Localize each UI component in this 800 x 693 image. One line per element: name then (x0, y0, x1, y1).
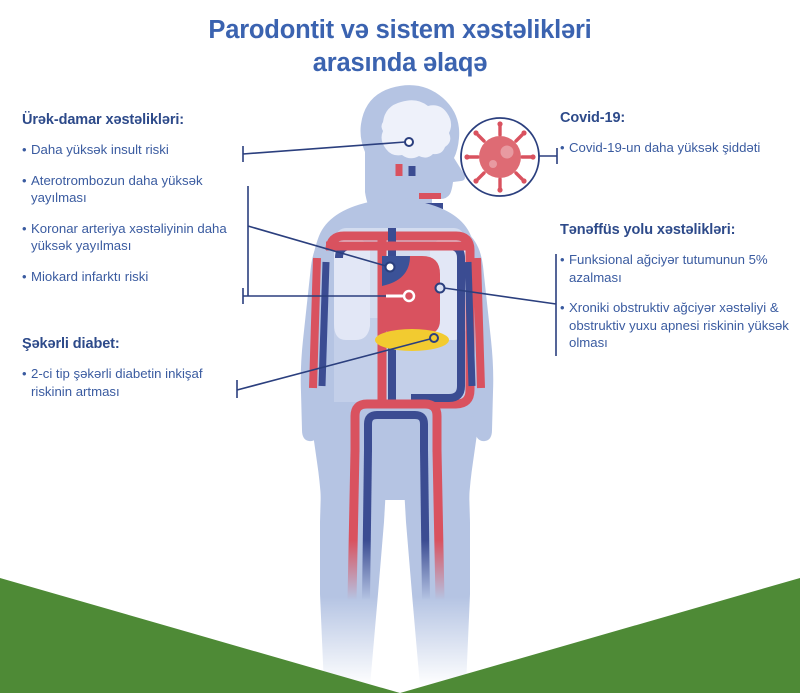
bullet-text: Miokard infarktı riski (31, 268, 237, 286)
list-item: • Daha yüksək insult riski (22, 141, 237, 159)
list-item: • Miokard infarktı riski (22, 268, 237, 286)
list-item: • Aterotrombozun daha yüksək yayılması (22, 172, 237, 207)
heading-respiratory: Tənəffüs yolu xəstəlikləri: (560, 222, 800, 238)
bullet-icon: • (22, 365, 31, 383)
bullet-icon: • (560, 251, 569, 269)
bullet-text: Covid-19-un daha yüksək şiddəti (569, 139, 798, 157)
heading-cardiovascular: Ürək-damar xəstəlikləri: (22, 112, 237, 128)
list-item: • Funksional ağciyər tutumunun 5% azalma… (560, 251, 800, 286)
bullet-icon: • (560, 299, 569, 317)
bullet-text: Daha yüksək insult riski (31, 141, 237, 159)
bullet-text: Funksional ağciyər tutumunun 5% azalması (569, 251, 800, 286)
list-item: • Koronar arteriya xəstəliyinin daha yük… (22, 220, 237, 255)
page-title: Parodontit və sistem xəstəlikləri arasın… (0, 14, 800, 80)
bullet-icon: • (560, 139, 569, 157)
bullet-icon: • (22, 172, 31, 190)
heading-diabetes: Şəkərli diabet: (22, 336, 237, 352)
bullet-text: Koronar arteriya xəstəliyinin daha yüksə… (31, 220, 237, 255)
bullet-icon: • (22, 141, 31, 159)
footer-chevron-shape (0, 578, 800, 693)
bullet-text: 2-ci tip şəkərli diabetin inkişaf riskin… (31, 365, 237, 400)
panel-cardiovascular: Ürək-damar xəstəlikləri: • Daha yüksək i… (22, 112, 237, 285)
heading-covid19: Covid-19: (560, 110, 798, 126)
list-item: • 2-ci tip şəkərli diabetin inkişaf risk… (22, 365, 237, 400)
list-item: • Covid-19-un daha yüksək şiddəti (560, 139, 798, 157)
list-item: • Xroniki obstruktiv ağciyər xəstəliyi &… (560, 299, 800, 352)
panel-covid19: Covid-19: • Covid-19-un daha yüksək şidd… (560, 110, 798, 157)
panel-diabetes: Şəkərli diabet: • 2-ci tip şəkərli diabe… (22, 336, 237, 400)
bullet-text: Xroniki obstruktiv ağciyər xəstəliyi & o… (569, 299, 800, 352)
title-line-1: Parodontit və sistem xəstəlikləri (0, 14, 800, 47)
title-line-2: arasında əlaqə (0, 47, 800, 80)
bullet-text: Aterotrombozun daha yüksək yayılması (31, 172, 237, 207)
panel-respiratory: Tənəffüs yolu xəstəlikləri: • Funksional… (560, 222, 800, 352)
bullet-icon: • (22, 268, 31, 286)
infographic-canvas: Parodontit və sistem xəstəlikləri arasın… (0, 0, 800, 693)
bullet-icon: • (22, 220, 31, 238)
